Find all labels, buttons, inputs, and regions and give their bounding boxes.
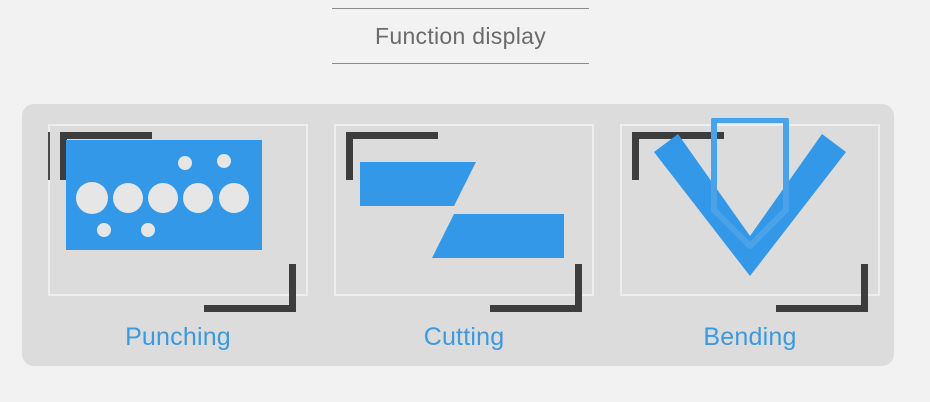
title-rule-bottom <box>332 63 589 64</box>
panel-label-bending: Bending <box>610 323 890 352</box>
punched-plate-icon <box>38 118 318 300</box>
panel-cutting[interactable]: Cutting <box>324 118 604 354</box>
function-panel-container: Punching Cutting Bending <box>22 104 894 366</box>
panel-label-cutting: Cutting <box>324 323 604 352</box>
sheared-sheet-icon <box>324 118 604 300</box>
panel-label-punching: Punching <box>38 323 318 352</box>
page-title: Function display <box>332 9 589 63</box>
panel-punching[interactable]: Punching <box>38 118 318 354</box>
panel-bending[interactable]: Bending <box>610 118 890 354</box>
page-title-block: Function display <box>332 8 589 64</box>
bent-sheet-with-punch-icon <box>610 118 890 300</box>
